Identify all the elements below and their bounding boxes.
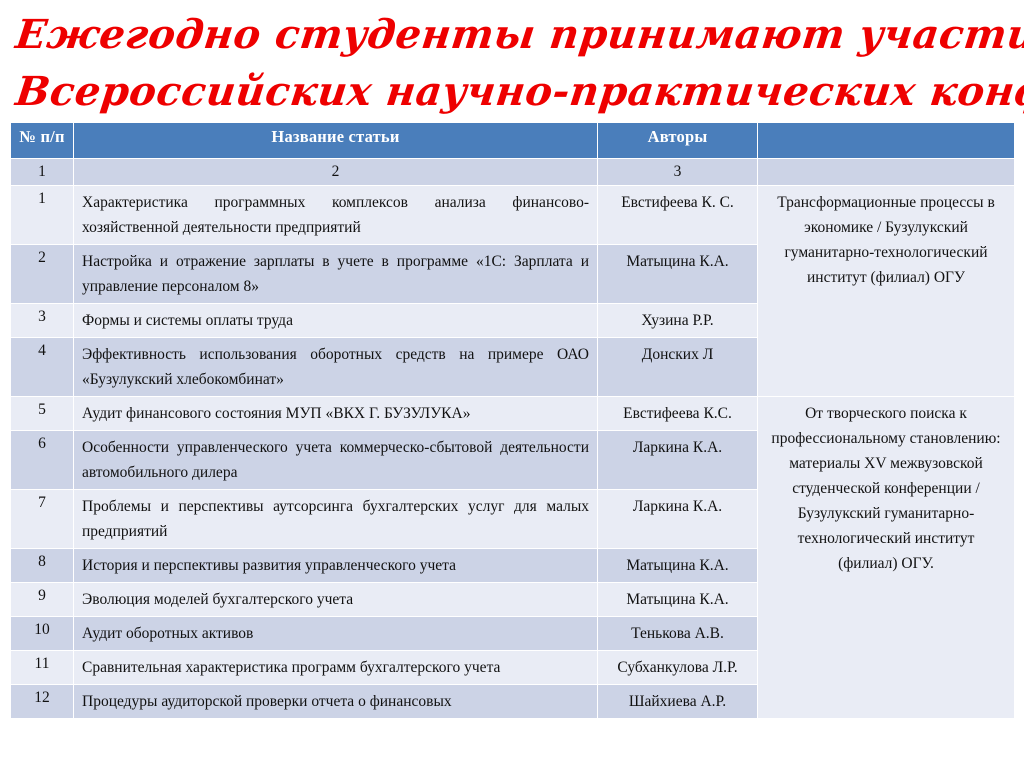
row-number: 9 — [11, 583, 74, 617]
table-header: № п/п Название статьи Авторы — [11, 123, 1015, 159]
row-article-title: Эффективность использования оборотных ср… — [74, 338, 598, 397]
row-number: 2 — [11, 245, 74, 304]
row-source-2: От творческого поиска к профессиональном… — [758, 397, 1015, 719]
row-authors: Тенькова А.В. — [598, 617, 758, 651]
row-number: 4 — [11, 338, 74, 397]
table-body: 1 2 3 1 Характеристика программных компл… — [11, 159, 1015, 719]
row-authors: Матыцина К.А. — [598, 245, 758, 304]
table-row[interactable]: 5 Аудит финансового состояния МУП «ВКХ Г… — [11, 397, 1015, 431]
row-authors: Евстифеева К. С. — [598, 186, 758, 245]
row-number: 10 — [11, 617, 74, 651]
column-index-2: 2 — [74, 159, 598, 186]
row-article-title: Формы и системы оплаты труда — [74, 304, 598, 338]
row-authors: Матыцина К.А. — [598, 583, 758, 617]
row-article-title: Эволюция моделей бухгалтерского учета — [74, 583, 598, 617]
column-index-1: 1 — [11, 159, 74, 186]
row-authors: Ларкина К.А. — [598, 490, 758, 549]
column-header-title: Название статьи — [74, 123, 598, 159]
row-number: 8 — [11, 549, 74, 583]
column-numbering-row: 1 2 3 — [11, 159, 1015, 186]
row-number: 6 — [11, 431, 74, 490]
articles-table: № п/п Название статьи Авторы 1 2 3 1 Хар… — [10, 122, 1015, 719]
page-title: Ежегодно студенты принимают участие во В… — [0, 6, 1024, 120]
column-header-authors: Авторы — [598, 123, 758, 159]
row-authors: Евстифеева К.С. — [598, 397, 758, 431]
column-header-number: № п/п — [11, 123, 74, 159]
row-article-title: Процедуры аудиторской проверки отчета о … — [74, 685, 598, 719]
slide-root: Ежегодно студенты принимают участие во В… — [0, 0, 1024, 768]
row-article-title: Проблемы и перспективы аутсорсинга бухга… — [74, 490, 598, 549]
column-index-4 — [758, 159, 1015, 186]
row-authors: Субханкулова Л.Р. — [598, 651, 758, 685]
column-index-3: 3 — [598, 159, 758, 186]
row-number: 12 — [11, 685, 74, 719]
articles-table-wrapper: № п/п Название статьи Авторы 1 2 3 1 Хар… — [10, 122, 1014, 719]
table-header-row: № п/п Название статьи Авторы — [11, 123, 1015, 159]
row-number: 1 — [11, 186, 74, 245]
row-article-title: Аудит финансового состояния МУП «ВКХ Г. … — [74, 397, 598, 431]
row-article-title: Аудит оборотных активов — [74, 617, 598, 651]
column-header-source — [758, 123, 1015, 159]
row-article-title: История и перспективы развития управленч… — [74, 549, 598, 583]
row-source-1: Трансформационные процессы в экономике /… — [758, 186, 1015, 397]
page-title-line-1: Ежегодно студенты принимают участие во — [13, 6, 1012, 63]
row-article-title: Характеристика программных комплексов ан… — [74, 186, 598, 245]
row-authors: Ларкина К.А. — [598, 431, 758, 490]
row-authors: Матыцина К.А. — [598, 549, 758, 583]
row-number: 3 — [11, 304, 74, 338]
page-title-line-2: Всероссийских научно-практических конфер… — [13, 63, 1012, 120]
row-article-title: Особенности управленческого учета коммер… — [74, 431, 598, 490]
row-article-title: Настройка и отражение зарплаты в учете в… — [74, 245, 598, 304]
row-article-title: Сравнительная характеристика программ бу… — [74, 651, 598, 685]
row-authors: Донских Л — [598, 338, 758, 397]
table-row[interactable]: 1 Характеристика программных комплексов … — [11, 186, 1015, 245]
row-number: 5 — [11, 397, 74, 431]
row-authors: Шайхиева А.Р. — [598, 685, 758, 719]
row-authors: Хузина Р.Р. — [598, 304, 758, 338]
row-number: 11 — [11, 651, 74, 685]
row-number: 7 — [11, 490, 74, 549]
